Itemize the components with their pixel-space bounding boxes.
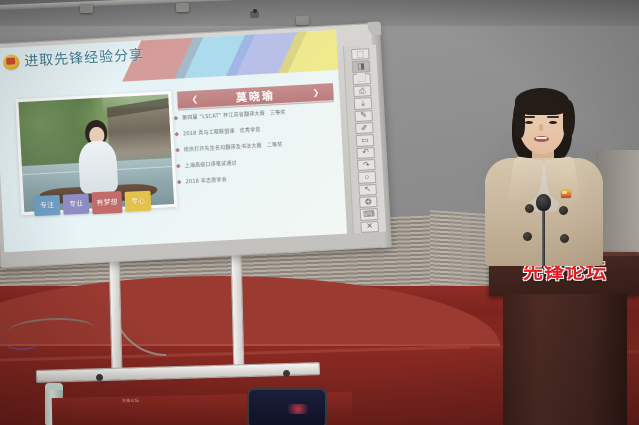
bullet-marker-icon: ◆ <box>176 163 181 172</box>
speaker-figure <box>485 86 603 266</box>
speaker-hair-side-right <box>563 100 575 138</box>
tag-professional: 专业 <box>63 194 90 215</box>
bullet-marker-icon: ◆ <box>177 179 182 188</box>
coat-button-4 <box>560 234 569 243</box>
print-icon[interactable]: ⎙ <box>353 85 372 97</box>
bullet-text: 2018 年志愿学会 <box>185 176 227 186</box>
lecture-room-scene: 进取先锋经验分享 专注 专业 有 <box>0 0 639 425</box>
bullet-marker-icon: ◆ <box>175 147 180 156</box>
page-select-icon[interactable]: ◨ <box>352 60 371 72</box>
bullet-text: 校庆打开先生名句翻译及书法大赛 二等奖 <box>184 141 283 154</box>
ceiling-mount-3 <box>296 16 309 25</box>
ceiling-mount-2 <box>176 3 189 12</box>
thermos-cap <box>45 383 63 390</box>
keyboard-icon[interactable]: ⌨ <box>360 208 379 220</box>
list-item: ◆ 2018 年志愿学会 <box>177 170 345 188</box>
bullet-text: 2018 青马工程联盟课 优秀学员 <box>183 126 261 138</box>
youth-league-pin-icon <box>561 190 571 198</box>
list-item: ◆ 2018 青马工程联盟课 优秀学员 <box>174 122 342 140</box>
camera-lens-icon <box>253 9 257 13</box>
tag-dedicated: 专心 <box>124 191 151 212</box>
presenter-name: 莫晓瑜 <box>236 87 276 105</box>
microphone-stem <box>542 206 545 266</box>
coat-button-1 <box>525 204 534 213</box>
chevron-right-icon: ❯ <box>312 88 319 97</box>
whiteboard-display[interactable]: 进取先锋经验分享 专注 专业 有 <box>0 30 347 252</box>
shape-icon[interactable]: ○ <box>358 171 377 183</box>
save-icon[interactable]: ⬚ <box>351 48 370 60</box>
photo-girl <box>74 119 122 195</box>
close-icon[interactable]: ✕ <box>360 221 379 233</box>
spotlight-icon[interactable]: ❂ <box>359 196 378 208</box>
banner-text: 先锋论坛 <box>122 398 139 404</box>
presentation-slide: 进取先锋经验分享 专注 专业 有 <box>0 30 347 252</box>
tag-focus: 专注 <box>34 195 61 216</box>
bullet-text: 上海高级口译笔试通过 <box>185 160 237 171</box>
highlighter-icon[interactable]: ✐ <box>355 122 374 134</box>
eraser-icon[interactable]: ▭ <box>356 134 375 146</box>
photo-girl-dress <box>78 140 119 194</box>
speaker-eye-right <box>549 121 557 124</box>
bullet-marker-icon: ◆ <box>173 115 178 124</box>
caster-wheel-right <box>283 370 290 377</box>
coat-button-2 <box>559 206 568 215</box>
list-item: ◆ 校庆打开先生名句翻译及书法大赛 二等奖 <box>175 138 343 156</box>
ceiling-mount-1 <box>80 4 93 13</box>
podium-body: NANJING XIAOZHUANG UNIVERSITY 1927 SCHOO… <box>503 294 627 425</box>
tag-dream: 有梦想 <box>91 191 122 214</box>
speaker-brow-right <box>547 116 559 118</box>
caster-wheel-left <box>96 374 103 381</box>
speaker-mouth <box>534 136 549 142</box>
undo-icon[interactable]: ↶ <box>356 147 375 159</box>
bullet-marker-icon: ◆ <box>174 131 179 140</box>
chevron-left-icon: ❮ <box>191 94 198 103</box>
export-icon[interactable]: ⤓ <box>354 97 373 109</box>
floor-monitor <box>247 388 327 425</box>
speaker-eye-left <box>525 121 533 124</box>
speaker-hair-side-left <box>513 100 525 138</box>
slide-keyword-tags: 专注 专业 有梦想 专心 <box>34 191 152 217</box>
interactive-whiteboard[interactable]: 进取先锋经验分享 专注 专业 有 <box>0 23 392 269</box>
speaker-brow-left <box>523 116 535 118</box>
new-page-icon[interactable]: ⬜ <box>352 73 371 85</box>
redo-icon[interactable]: ↷ <box>357 159 376 171</box>
microphone-icon[interactable] <box>536 194 551 211</box>
speaker-nose <box>539 124 543 131</box>
select-icon[interactable]: ↖ <box>358 184 377 196</box>
pen-icon[interactable]: ✎ <box>354 110 373 122</box>
coat-button-3 <box>523 232 532 241</box>
slide-bullet-list: ◆ 第四届 “LSCAT” 杯江苏省翻译大赛 三等奖 ◆ 2018 青马工程联盟… <box>173 106 345 195</box>
list-item: ◆ 上海高级口译笔试通过 <box>176 154 344 172</box>
youth-league-badge-icon <box>3 54 20 70</box>
purple-cable <box>2 330 42 350</box>
bullet-text: 第四届 “LSCAT” 杯江苏省翻译大赛 三等奖 <box>182 109 286 123</box>
